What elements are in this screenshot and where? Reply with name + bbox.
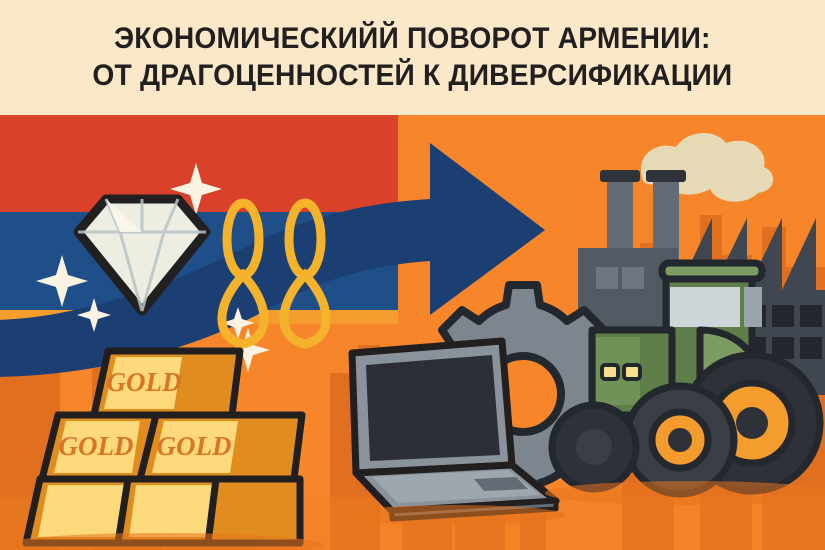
gold-bar-label: GOLD bbox=[157, 431, 232, 461]
tractor-front-hub bbox=[576, 429, 612, 465]
tractor-rear-axle bbox=[736, 407, 768, 439]
laptop-screen bbox=[366, 355, 500, 461]
infographic-canvas: ЭКОНОМИЧЕСКИЙЙ ПОВОРОТ АРМЕНИИ: ОТ ДРАГО… bbox=[0, 0, 825, 550]
smokestack-cap-left bbox=[600, 170, 640, 182]
title-banner: ЭКОНОМИЧЕСКИЙЙ ПОВОРОТ АРМЕНИИ: ОТ ДРАГО… bbox=[0, 0, 825, 115]
factory-window bbox=[622, 267, 644, 289]
title-line-1: ЭКОНОМИЧЕСКИЙЙ ПОВОРОТ АРМЕНИИ: bbox=[114, 24, 711, 55]
gold-bar-label: GOLD bbox=[107, 367, 182, 397]
gold-bar-row-top: GOLD bbox=[94, 351, 240, 415]
tractor-window bbox=[670, 287, 740, 327]
tractor-headlight bbox=[602, 365, 618, 379]
tractor-mid-axle bbox=[668, 428, 692, 452]
gold-bar-label: GOLD bbox=[59, 431, 134, 461]
tractor-window-rear bbox=[744, 287, 762, 327]
tractor-headlight bbox=[624, 365, 640, 379]
gold-bar-row-middle: GOLD GOLD bbox=[42, 415, 302, 479]
smokestack-cap-right bbox=[646, 170, 686, 182]
title-line-2: ОТ ДРАГОЦЕННОСТЕЙ К ДИВЕРСИФИКАЦИИ bbox=[93, 61, 733, 92]
illustration-area: GOLD GOLD GOLD bbox=[0, 115, 825, 550]
gold-bar bbox=[208, 479, 300, 543]
tractor-roof bbox=[662, 263, 762, 279]
factory-window bbox=[596, 267, 618, 289]
gold-bar-face bbox=[129, 485, 214, 537]
gold-bar-face bbox=[38, 485, 125, 537]
